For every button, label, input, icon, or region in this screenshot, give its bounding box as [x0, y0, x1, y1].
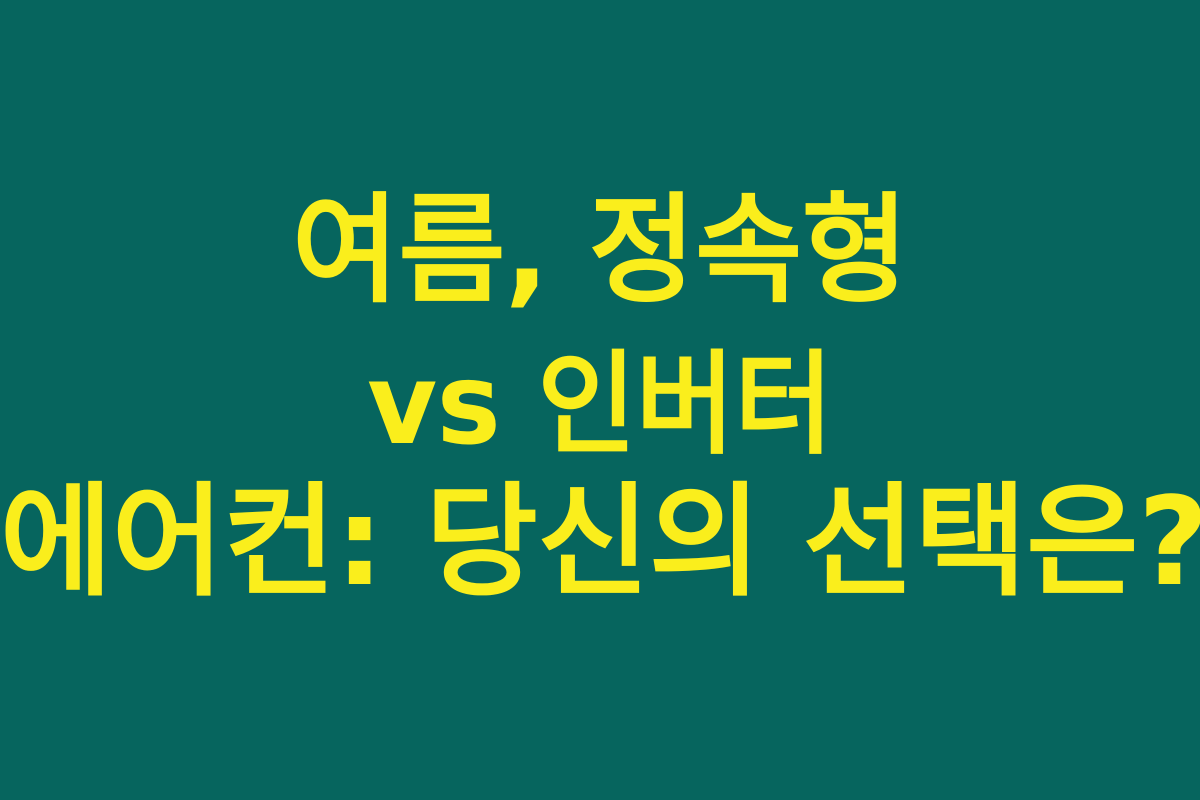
title-line-1: 여름, 정속형 — [9, 191, 1191, 309]
title-line-2: vs 인버터 — [24, 349, 1176, 461]
title-line-3: 에어컨: 당신의 선택은? — [0, 481, 1200, 603]
page-title: 여름, 정속형 vs 인버터 에어컨: 당신의 선택은? — [0, 191, 1200, 603]
thumbnail-canvas: 여름, 정속형 vs 인버터 에어컨: 당신의 선택은? — [0, 0, 1200, 800]
